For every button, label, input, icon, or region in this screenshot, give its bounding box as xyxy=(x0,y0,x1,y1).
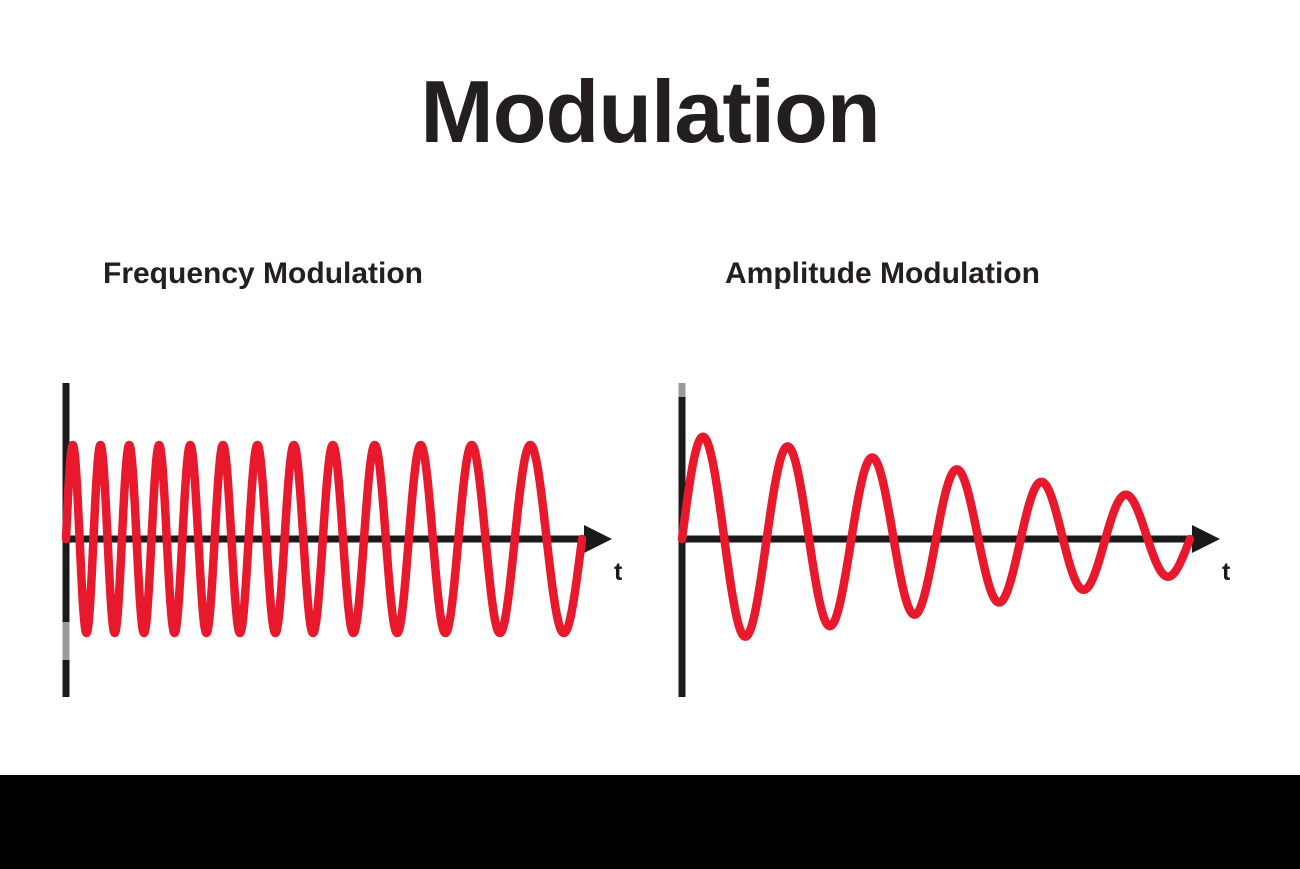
x-axis-label-am: t xyxy=(1222,558,1231,586)
page-title: Modulation xyxy=(0,62,1300,162)
x-axis-arrow-fm xyxy=(584,525,612,553)
x-axis-arrow-am xyxy=(1192,525,1220,553)
watermark-footer: alamy Image ID: 2NMMBMW www.alamy.com xyxy=(0,775,1300,869)
panel-frequency-modulation: Frequency Modulation t xyxy=(30,255,630,725)
panel-title-amplitude-modulation: Amplitude Modulation xyxy=(660,255,1300,293)
x-axis-label-fm: t xyxy=(614,558,623,586)
modulation-infographic: Modulation Frequency Modulation t Amplit… xyxy=(0,0,1300,869)
illustration-canvas: Modulation Frequency Modulation t Amplit… xyxy=(0,0,1300,775)
panel-amplitude-modulation: Amplitude Modulation t xyxy=(660,255,1260,725)
chart-amplitude-modulation: t xyxy=(660,375,1260,715)
chart-frequency-modulation: t xyxy=(30,375,630,715)
panel-title-frequency-modulation: Frequency Modulation xyxy=(30,255,703,293)
